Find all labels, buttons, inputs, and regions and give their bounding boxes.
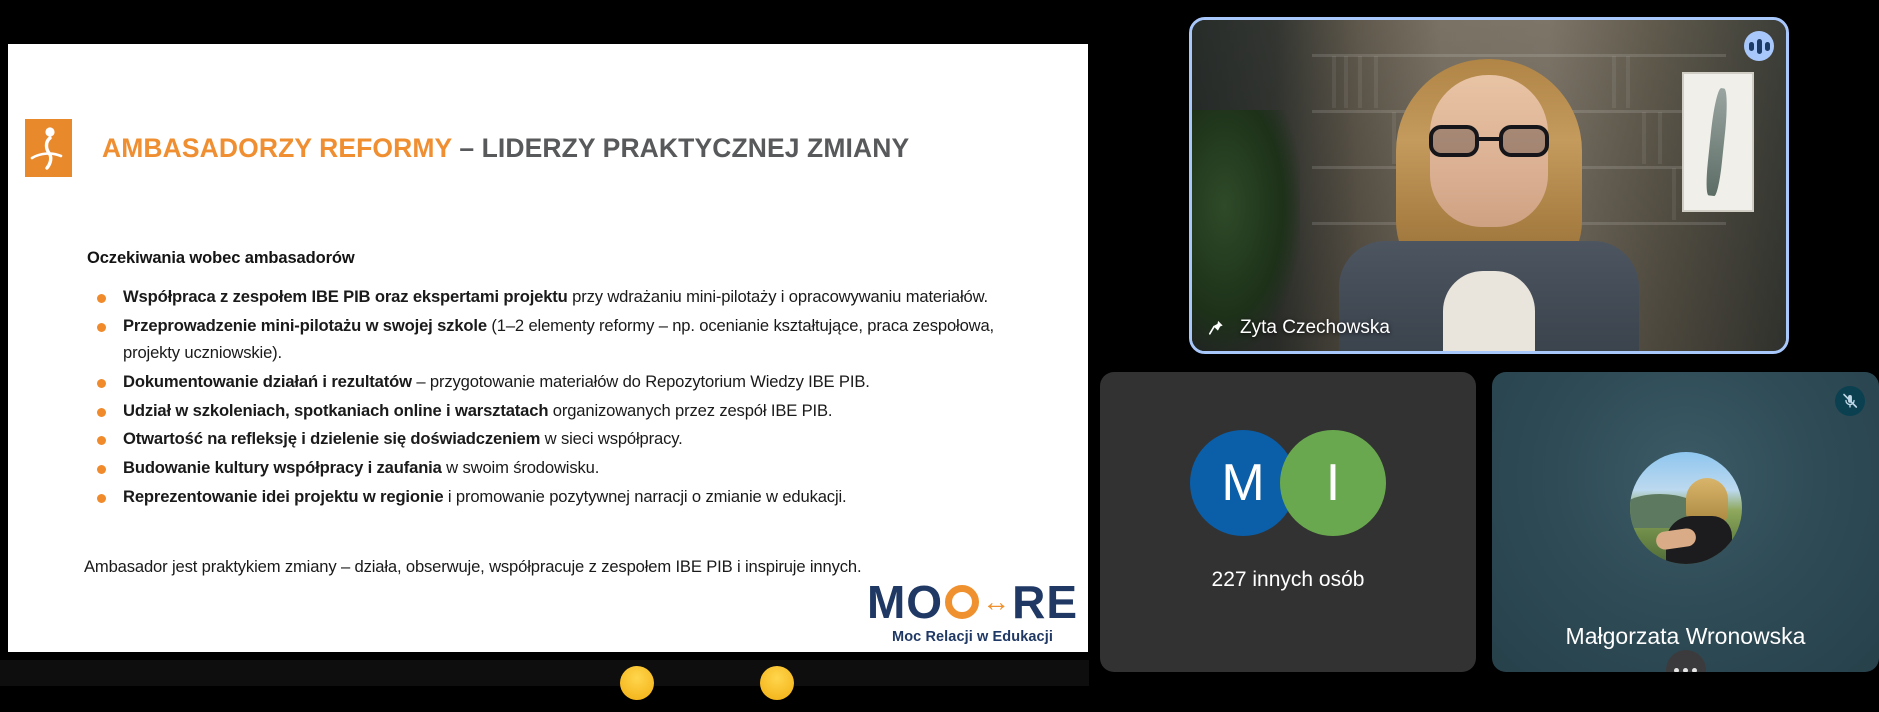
bullet-strong: Udział w szkoleniach, spotkaniach online… (123, 401, 548, 420)
slide-title-highlight: AMBASADORZY REFORMY (102, 133, 452, 163)
microphone-muted-icon (1835, 386, 1865, 416)
plant-decoration (1192, 110, 1300, 350)
reaction-emoji-icon (760, 666, 794, 700)
bullet-rest: w swoim środowisku. (442, 458, 599, 477)
avatar (1630, 452, 1742, 564)
participant-rail: Zyta Czechowska M I 227 innych osób (1100, 0, 1879, 712)
bullet-rest: – przygotowanie materiałów do Repozytori… (412, 372, 870, 391)
bullet-rest: w sieci współpracy. (540, 429, 682, 448)
slide-title: AMBASADORZY REFORMY – LIDERZY PRAKTYCZNE… (102, 135, 909, 162)
participant-tile-others[interactable]: M I 227 innych osób (1100, 372, 1476, 672)
list-item: Współpraca z zespołem IBE PIB oraz ekspe… (87, 284, 1037, 311)
reactions-strip (0, 660, 1089, 686)
more-logo-tagline: Moc Relacji w Edukacji (867, 630, 1078, 645)
presentation-slide: AMBASADORZY REFORMY – LIDERZY PRAKTYCZNE… (8, 44, 1088, 652)
more-logo-arrow-icon: ↔ (982, 588, 1011, 616)
slide-bullet-list: Współpraca z zespołem IBE PIB oraz ekspe… (87, 284, 1037, 513)
meeting-window: AMBASADORZY REFORMY – LIDERZY PRAKTYCZNE… (0, 0, 1879, 712)
list-item: Dokumentowanie działań i rezultatów – pr… (87, 369, 1037, 396)
slide-subheading: Oczekiwania wobec ambasadorów (87, 249, 355, 268)
network-signal-icon (1744, 31, 1774, 61)
shared-screen-stage[interactable]: AMBASADORZY REFORMY – LIDERZY PRAKTYCZNE… (0, 0, 1089, 686)
reaction-emoji-icon (620, 666, 654, 700)
more-logo-o-ring-icon (945, 585, 979, 619)
slide-header: AMBASADORZY REFORMY – LIDERZY PRAKTYCZNE… (25, 119, 909, 177)
bullet-strong: Budowanie kultury współpracy i zaufania (123, 458, 442, 477)
list-item: Reprezentowanie idei projektu w regionie… (87, 484, 1037, 511)
speaker-video-person (1344, 51, 1634, 351)
wall-art-decoration (1682, 72, 1754, 212)
participant-tile-speaker[interactable]: Zyta Czechowska (1189, 17, 1789, 354)
pin-icon (1206, 318, 1226, 338)
bullet-strong: Dokumentowanie działań i rezultatów (123, 372, 412, 391)
bullet-rest: i promowanie pozytywnej narracji o zmian… (443, 487, 846, 506)
avatar: I (1280, 430, 1386, 536)
avatar-group: M I (1190, 430, 1386, 536)
list-item: Budowanie kultury współpracy i zaufania … (87, 455, 1037, 482)
bullet-strong: Przeprowadzenie mini-pilotażu w swojej s… (123, 316, 487, 335)
bullet-strong: Reprezentowanie idei projektu w regionie (123, 487, 443, 506)
participant-name-label: Małgorzata Wronowska (1492, 623, 1879, 650)
more-options-icon[interactable] (1666, 650, 1706, 672)
bullet-strong: Otwartość na refleksję i dzielenie się d… (123, 429, 540, 448)
more-logo-part2: RE (1012, 579, 1078, 625)
speaker-name-label: Zyta Czechowska (1206, 317, 1390, 339)
glasses-icon (1429, 125, 1549, 157)
more-brand-logo: MO ↔ RE Moc Relacji w Edukacji (867, 579, 1078, 645)
person-running-orange-icon (25, 119, 72, 177)
list-item: Udział w szkoleniach, spotkaniach online… (87, 398, 1037, 425)
bullet-strong: Współpraca z zespołem IBE PIB oraz ekspe… (123, 287, 568, 306)
participant-tile-malgorzata[interactable]: Małgorzata Wronowska (1492, 372, 1879, 672)
list-item: Przeprowadzenie mini-pilotażu w swojej s… (87, 313, 1037, 367)
speaker-name-text: Zyta Czechowska (1240, 317, 1390, 339)
slide-closing-text: Ambasador jest praktykiem zmiany – dział… (84, 557, 861, 577)
more-logo-wordmark: MO ↔ RE (867, 579, 1078, 625)
slide-title-rest: – LIDERZY PRAKTYCZNEJ ZMIANY (452, 133, 909, 163)
others-count-label: 227 innych osób (1100, 568, 1476, 592)
list-item: Otwartość na refleksję i dzielenie się d… (87, 426, 1037, 453)
more-logo-part1: MO (867, 579, 943, 625)
bullet-rest: przy wdrażaniu mini-pilotaży i opracowyw… (568, 287, 988, 306)
bullet-rest: organizowanych przez zespół IBE PIB. (548, 401, 832, 420)
